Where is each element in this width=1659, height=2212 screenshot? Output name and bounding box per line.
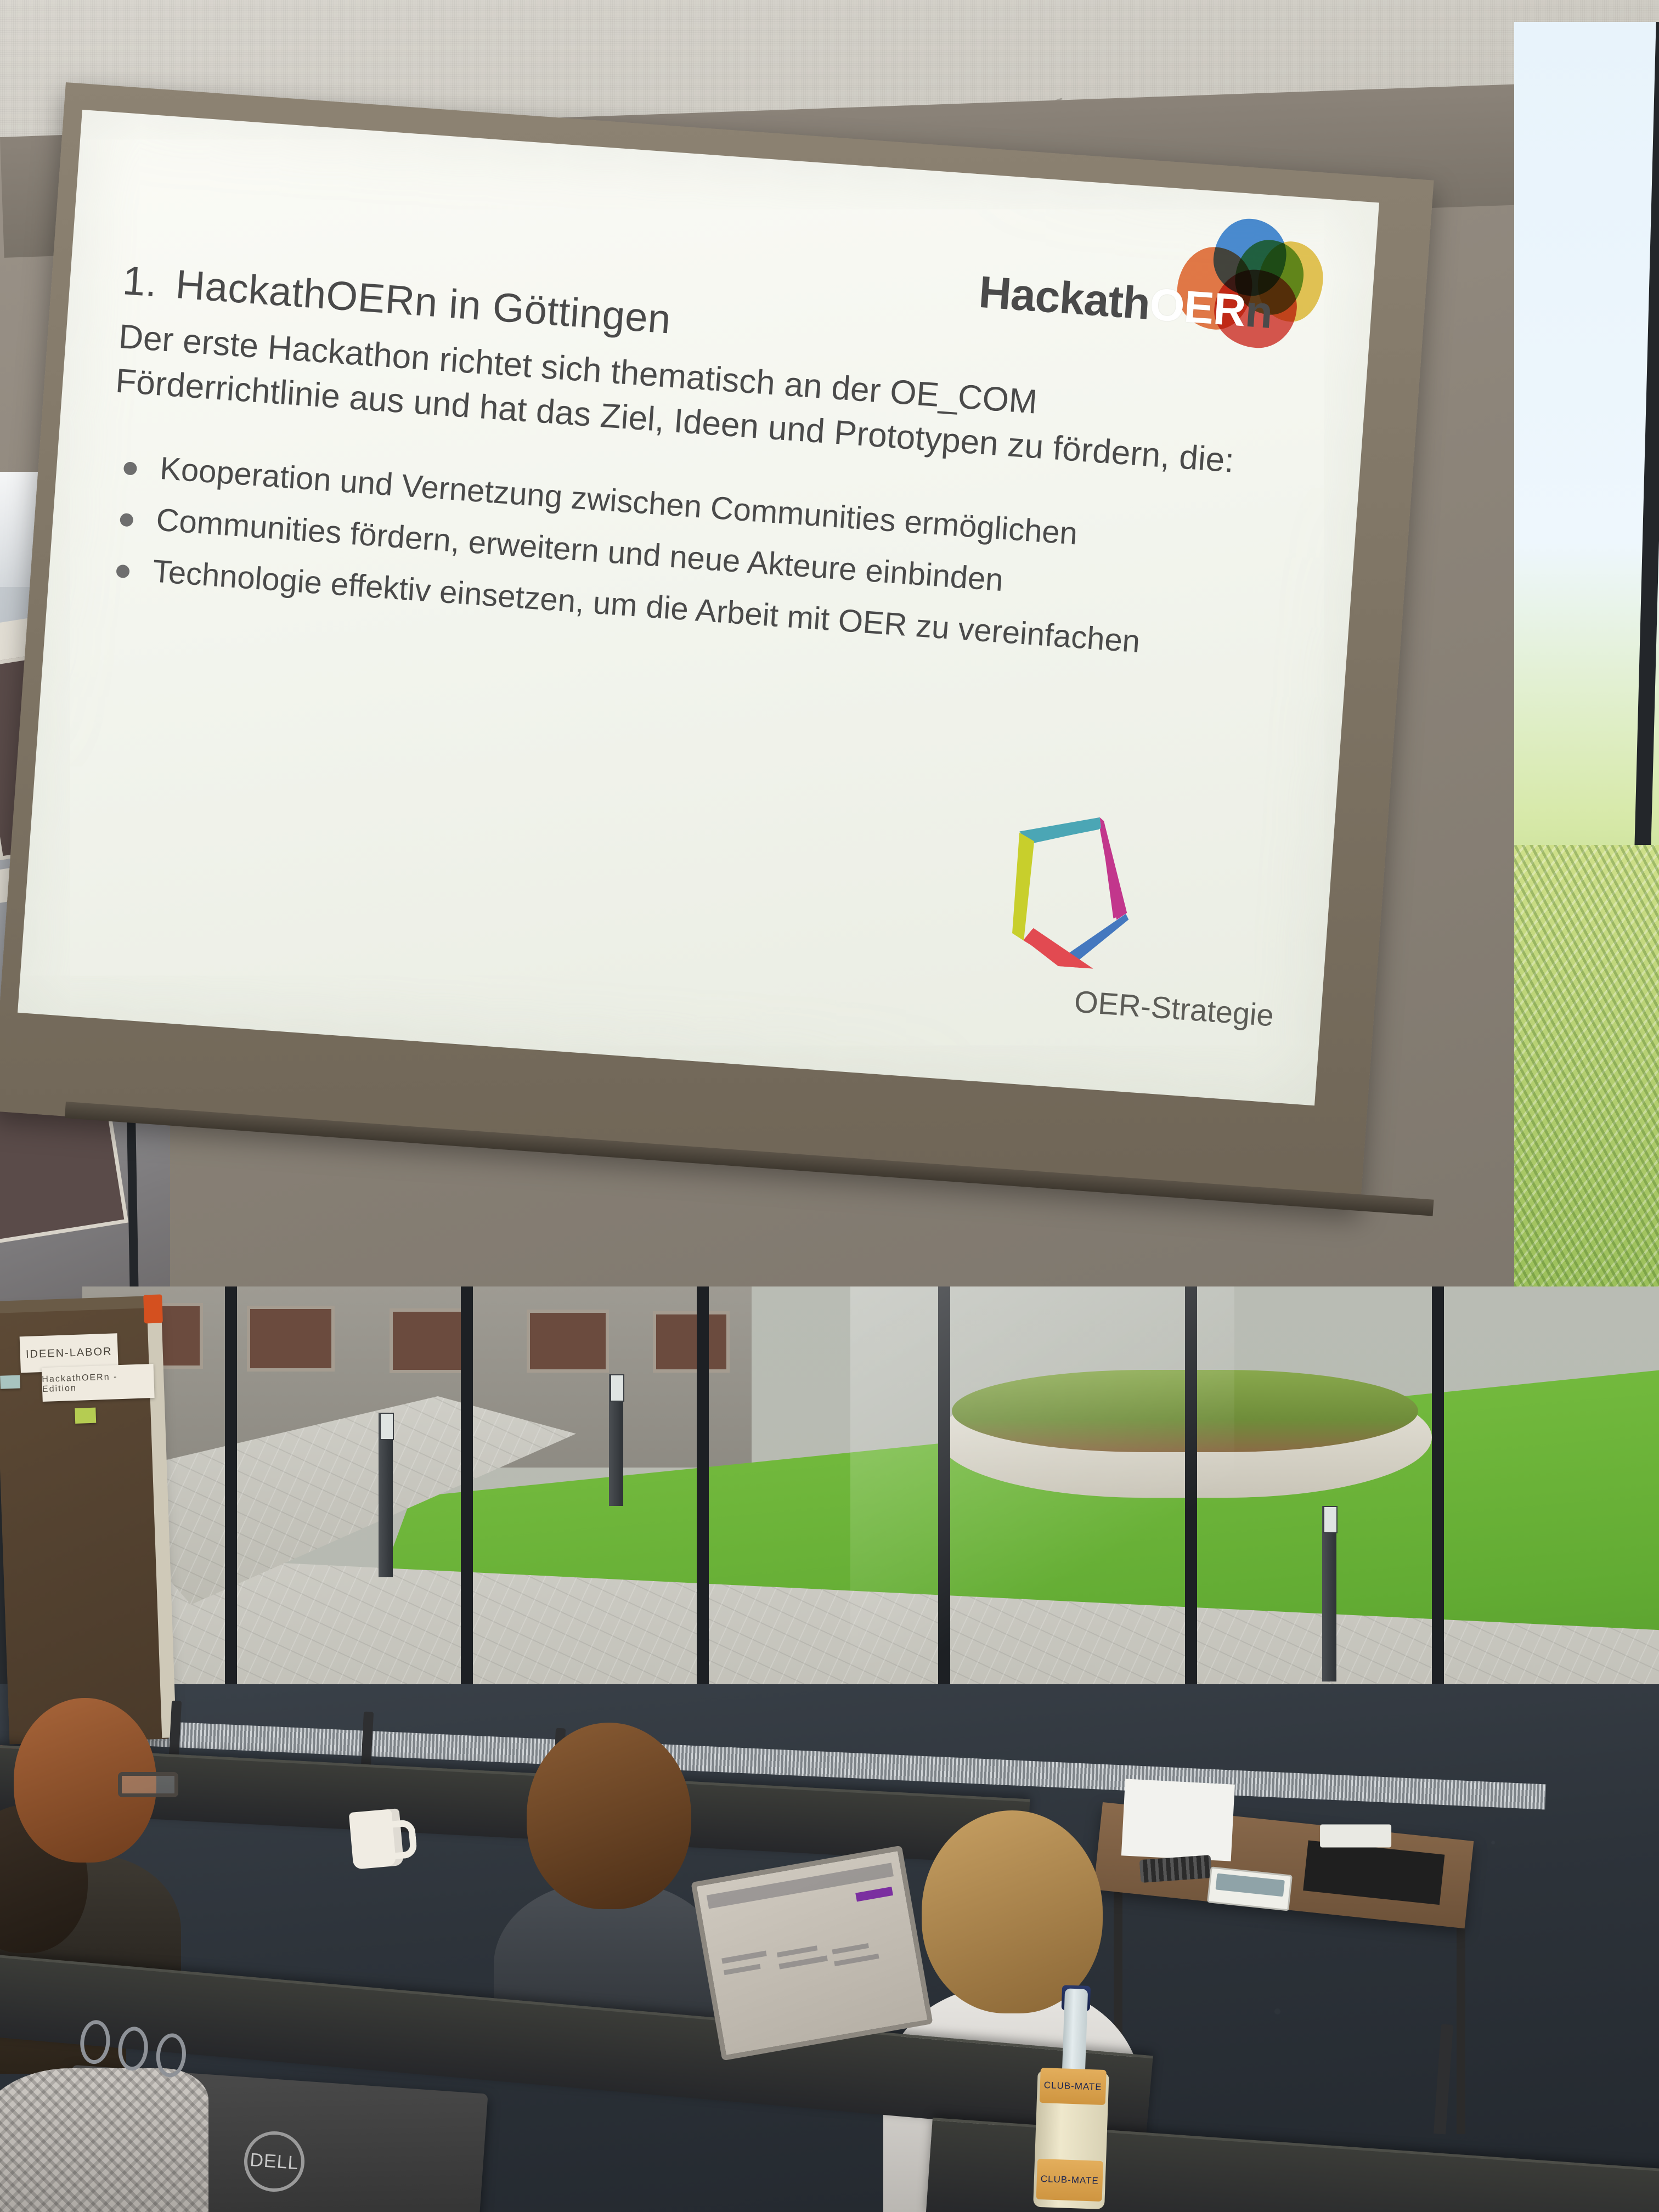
audience-person-head [527,1723,691,1909]
bollard-lamp [1322,1506,1336,1681]
pinboard-sign-hackathoern-edition: HackathOERn - Edition [42,1364,155,1402]
bollard-lamp [609,1374,623,1506]
logo-word-highlight: OER [1148,279,1247,336]
pinboard-corner-cap [143,1294,163,1323]
pinboard-note [75,1408,96,1424]
hackathoern-logo: HackathOERn [976,205,1324,356]
open-laptop [691,1846,933,2061]
bottle-label-top: CLUB-MATE [1040,2068,1107,2105]
right-window-wall [1514,22,1659,1393]
lectern-paper-sheet [1121,1779,1235,1861]
oer-strategie-logo: OER-Strategie [1002,798,1252,1034]
logo-word-prefix: Hackath [977,267,1152,329]
laptop-lid [691,1846,933,2061]
lectern-dark-box [1303,1841,1444,1905]
audience-sweater-sleeve [0,2068,208,2212]
eyeglasses [118,1772,178,1797]
pinboard-note [0,1375,20,1389]
laptop-ui-badge [855,1887,893,1901]
presentation-slide: HackathOERn 1.HackathOERn in Göttingen D… [18,110,1379,1105]
lectern-leg [1457,1915,1465,2134]
slide-bullet-list: Kooperation und Vernetzung zwischen Comm… [111,443,1316,682]
bollard-lamp [379,1413,393,1577]
projection-screen-assembly: HackathOERn 1.HackathOERn in Göttingen D… [66,82,1448,1180]
coffee-mug [349,1808,404,1870]
oer-strategie-pentagon-icon [1006,798,1198,975]
oer-strategie-label: OER-Strategie [1073,984,1275,1034]
club-mate-bottle: CLUB-MATE CLUB-MATE [1033,1988,1112,2209]
photo-scene: HackathOERn 1.HackathOERn in Göttingen D… [0,0,1659,2212]
audience-person-head [922,1810,1103,2013]
lectern-remote-control [1139,1855,1212,1883]
bottle-label-bottom: CLUB-MATE [1036,2159,1103,2202]
lectern-white-box [1320,1825,1391,1848]
pinboard: IDEEN-LABOR HackathOERn - Edition [0,1306,168,1745]
dell-logo: DELL [242,2129,306,2193]
slide-title-number: 1. [121,257,159,306]
logo-word-suffix: n [1244,286,1274,338]
